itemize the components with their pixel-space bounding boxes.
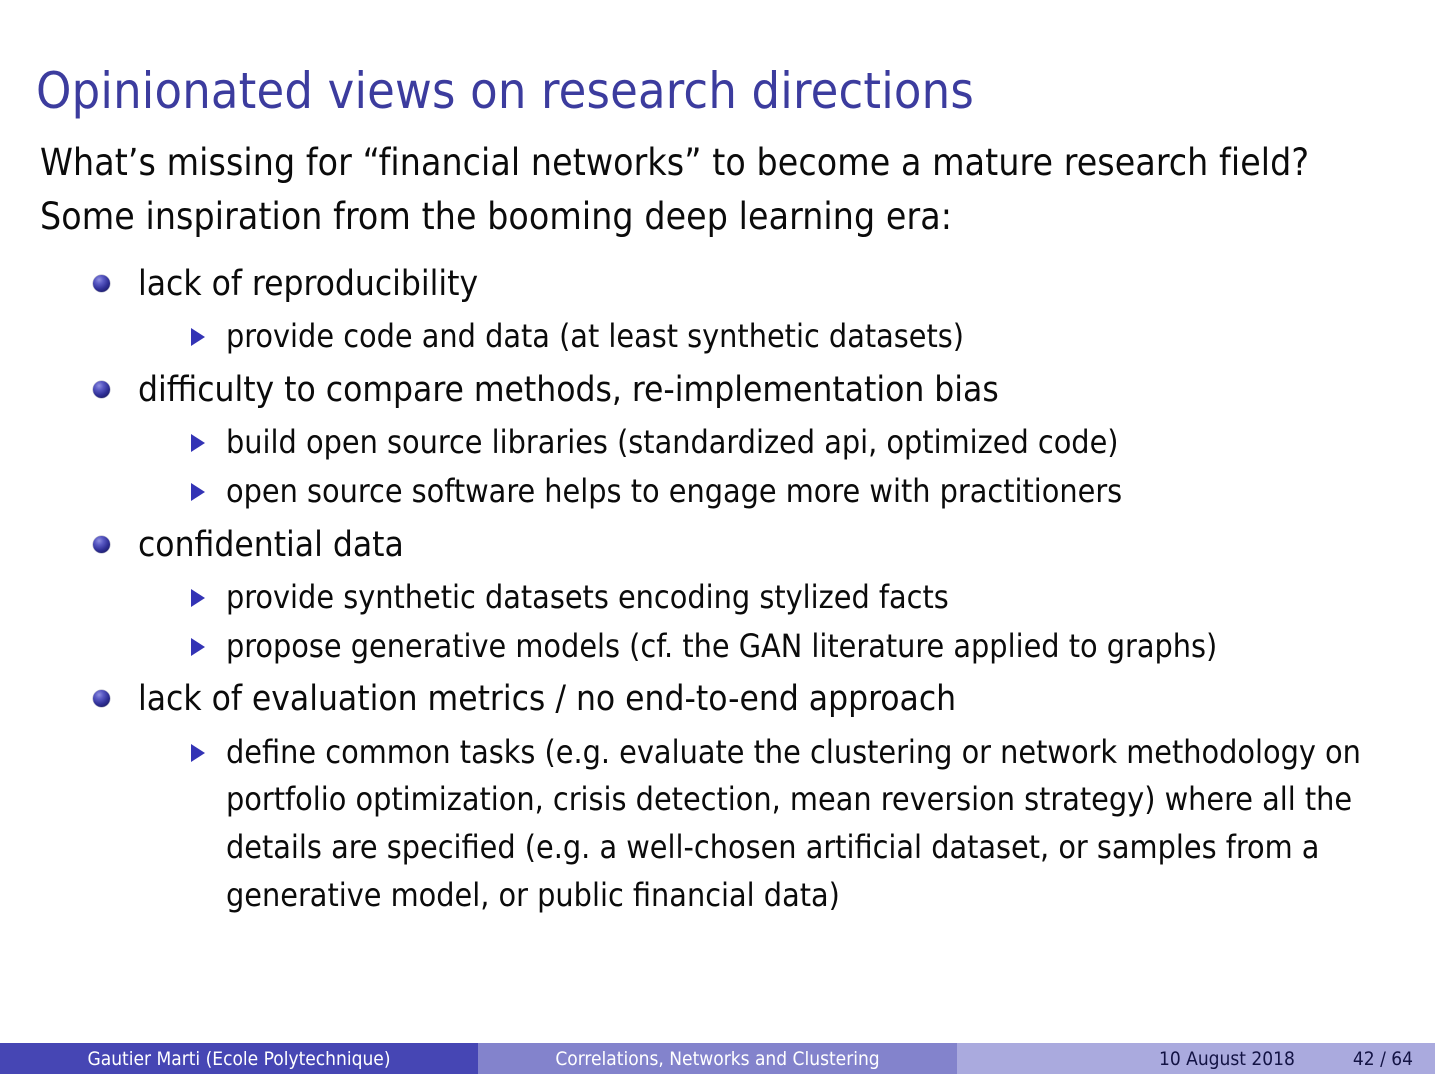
bullet-list-level-1: lack of reproducibility provide code and… (40, 259, 1415, 920)
list-item: confidential data provide synthetic data… (88, 520, 1415, 671)
footer-meta: 10 August 2018 42 / 64 (957, 1043, 1435, 1074)
list-item: lack of reproducibility provide code and… (88, 259, 1415, 361)
list-item: difficulty to compare methods, re-implem… (88, 365, 1415, 516)
sphere-bullet-icon (93, 381, 110, 398)
sphere-bullet-icon (93, 275, 110, 292)
list-item-label: difficulty to compare methods, re-implem… (138, 365, 1415, 415)
footer-date: 10 August 2018 (1159, 1048, 1295, 1070)
triangle-bullet-icon (191, 483, 205, 501)
intro-line-1: What’s missing for “financial networks” … (40, 136, 1415, 190)
list-item-label: build open source libraries (standardize… (226, 419, 1415, 467)
list-item: provide code and data (at least syntheti… (181, 313, 1415, 361)
slide-footer: Gautier Marti (Ecole Polytechnique) Corr… (0, 1043, 1435, 1074)
list-item: propose generative models (cf. the GAN l… (181, 623, 1415, 671)
triangle-bullet-icon (191, 589, 205, 607)
triangle-bullet-icon (191, 638, 205, 656)
list-item-label: lack of reproducibility (138, 259, 1415, 309)
sphere-bullet-icon (93, 690, 110, 707)
list-item-label: define common tasks (e.g. evaluate the c… (226, 729, 1415, 920)
triangle-bullet-icon (191, 328, 205, 346)
footer-page-number: 42 / 64 (1353, 1048, 1413, 1070)
slide: Opinionated views on research directions… (0, 0, 1435, 1074)
list-item-label: propose generative models (cf. the GAN l… (226, 623, 1415, 671)
bullet-list-level-2: provide synthetic datasets encoding styl… (138, 574, 1415, 670)
triangle-bullet-icon (191, 434, 205, 452)
bullet-list-level-2: provide code and data (at least syntheti… (138, 313, 1415, 361)
bullet-list-level-2: define common tasks (e.g. evaluate the c… (138, 729, 1415, 920)
list-item: build open source libraries (standardize… (181, 419, 1415, 467)
list-item: define common tasks (e.g. evaluate the c… (181, 729, 1415, 920)
list-item-label: lack of evaluation metrics / no end-to-e… (138, 674, 1415, 724)
footer-author: Gautier Marti (Ecole Polytechnique) (0, 1043, 478, 1074)
bullet-list-level-2: build open source libraries (standardize… (138, 419, 1415, 515)
slide-body: What’s missing for “financial networks” … (40, 136, 1415, 923)
intro-paragraph: What’s missing for “financial networks” … (40, 136, 1415, 245)
list-item-label: open source software helps to engage mor… (226, 468, 1415, 516)
list-item-label: provide code and data (at least syntheti… (226, 313, 1415, 361)
list-item-label: confidential data (138, 520, 1415, 570)
list-item: lack of evaluation metrics / no end-to-e… (88, 674, 1415, 919)
page-title: Opinionated views on research directions (36, 64, 974, 118)
list-item-label: provide synthetic datasets encoding styl… (226, 574, 1415, 622)
list-item: open source software helps to engage mor… (181, 468, 1415, 516)
list-item: provide synthetic datasets encoding styl… (181, 574, 1415, 622)
intro-line-2: Some inspiration from the booming deep l… (40, 190, 1415, 244)
triangle-bullet-icon (191, 744, 205, 762)
sphere-bullet-icon (93, 536, 110, 553)
footer-subject: Correlations, Networks and Clustering (478, 1043, 957, 1074)
